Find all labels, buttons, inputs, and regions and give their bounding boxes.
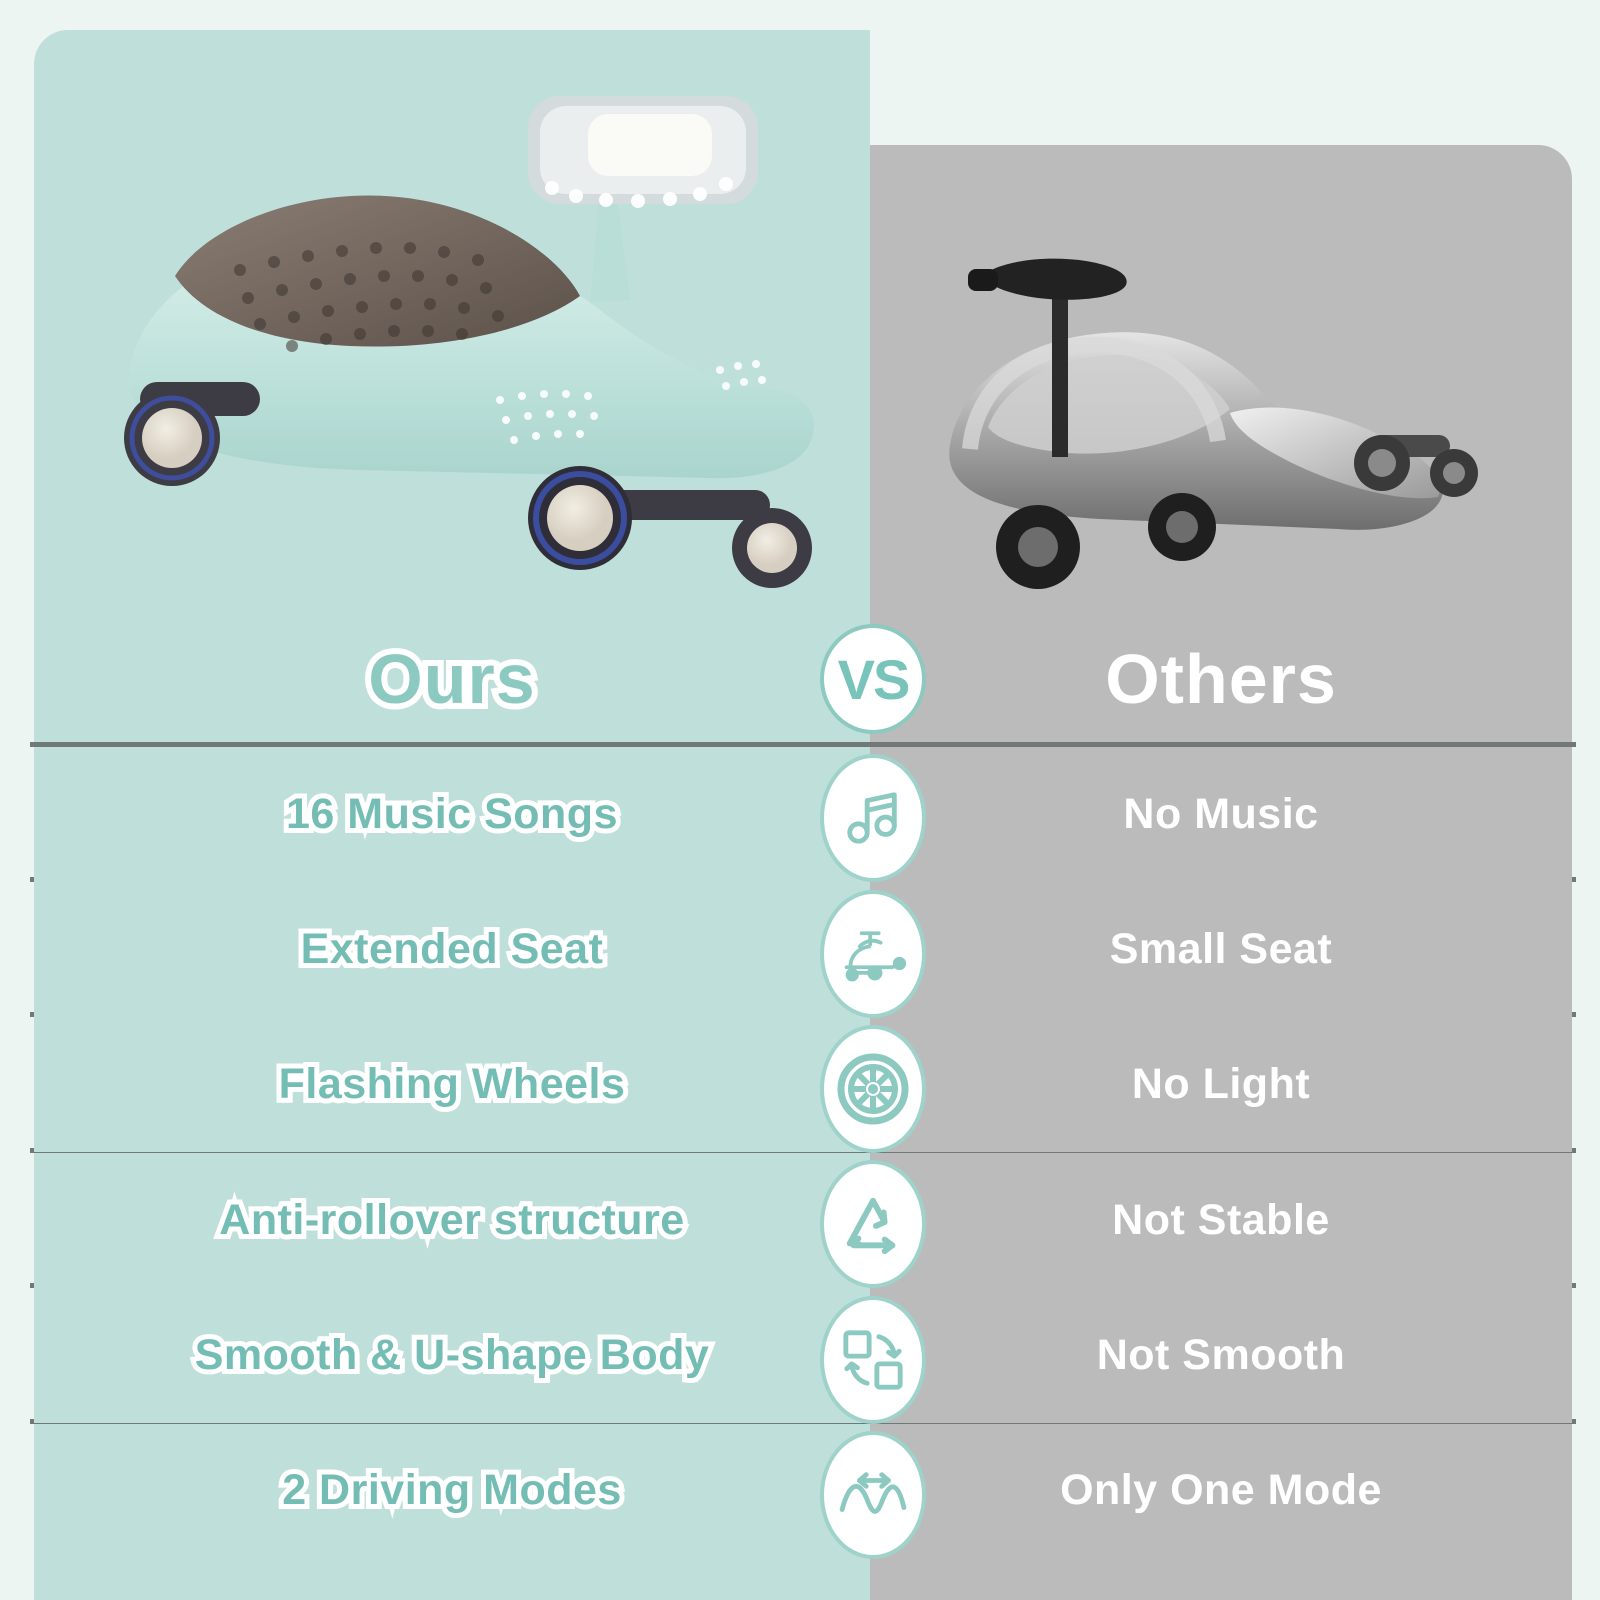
others-feature-label: No Music	[1123, 790, 1318, 839]
others-feature-label: Not Stable	[1112, 1196, 1330, 1245]
others-cell: Small Seat	[870, 882, 1572, 1017]
wave-arrow-icon	[820, 1431, 926, 1559]
swap-squares-icon	[820, 1296, 926, 1424]
table-row: 16 Music Songs No Music	[0, 747, 1600, 882]
table-row: Smooth & U-shape Body Not Smooth	[0, 1288, 1600, 1423]
comparison-header: Ours Others	[0, 612, 1600, 745]
others-feature-label: Not Smooth	[1097, 1331, 1346, 1380]
ours-cell: 2 Driving Modes	[34, 1424, 870, 1600]
ours-feature-label: Smooth & U-shape Body	[195, 1331, 710, 1380]
music-note-icon	[820, 754, 926, 882]
ours-cell: Extended Seat	[34, 882, 870, 1017]
feature-rows: 16 Music Songs No Music Extended Seat Sm…	[0, 745, 1600, 1600]
ours-feature-label: Extended Seat	[301, 925, 604, 974]
others-feature-label: Small Seat	[1110, 925, 1333, 974]
others-product-image	[930, 235, 1510, 625]
ours-feature-label: Flashing Wheels	[279, 1060, 626, 1109]
ours-feature-label: 2 Driving Modes	[282, 1466, 622, 1515]
table-row: 2 Driving Modes Only One Mode	[0, 1424, 1600, 1600]
ours-feature-label: Anti-rollover structure	[219, 1196, 684, 1245]
ours-product-image	[60, 70, 850, 600]
ours-cell: Flashing Wheels	[34, 1017, 870, 1152]
table-row: Anti-rollover structure Not Stable	[0, 1153, 1600, 1288]
recycle-icon	[820, 1160, 926, 1288]
wheel-icon	[820, 1025, 926, 1153]
vs-badge: VS	[820, 624, 926, 734]
others-cell: No Music	[870, 747, 1572, 882]
others-heading: Others	[870, 612, 1572, 745]
others-cell: Only One Mode	[870, 1424, 1572, 1600]
ours-heading: Ours	[34, 612, 870, 745]
others-cell: No Light	[870, 1017, 1572, 1152]
ours-cell: Anti-rollover structure	[34, 1153, 870, 1288]
others-feature-label: No Light	[1132, 1060, 1310, 1109]
table-row: Flashing Wheels No Light	[0, 1017, 1600, 1152]
ours-cell: 16 Music Songs	[34, 747, 870, 882]
ride-on-car-icon	[820, 890, 926, 1018]
others-cell: Not Stable	[870, 1153, 1572, 1288]
ours-feature-label: 16 Music Songs	[286, 790, 618, 839]
ours-cell: Smooth & U-shape Body	[34, 1288, 870, 1423]
others-cell: Not Smooth	[870, 1288, 1572, 1423]
comparison-infographic: Ours Others VS 16 Music Songs No Music E…	[0, 0, 1600, 1600]
others-feature-label: Only One Mode	[1060, 1466, 1382, 1515]
table-row: Extended Seat Small Seat	[0, 882, 1600, 1017]
